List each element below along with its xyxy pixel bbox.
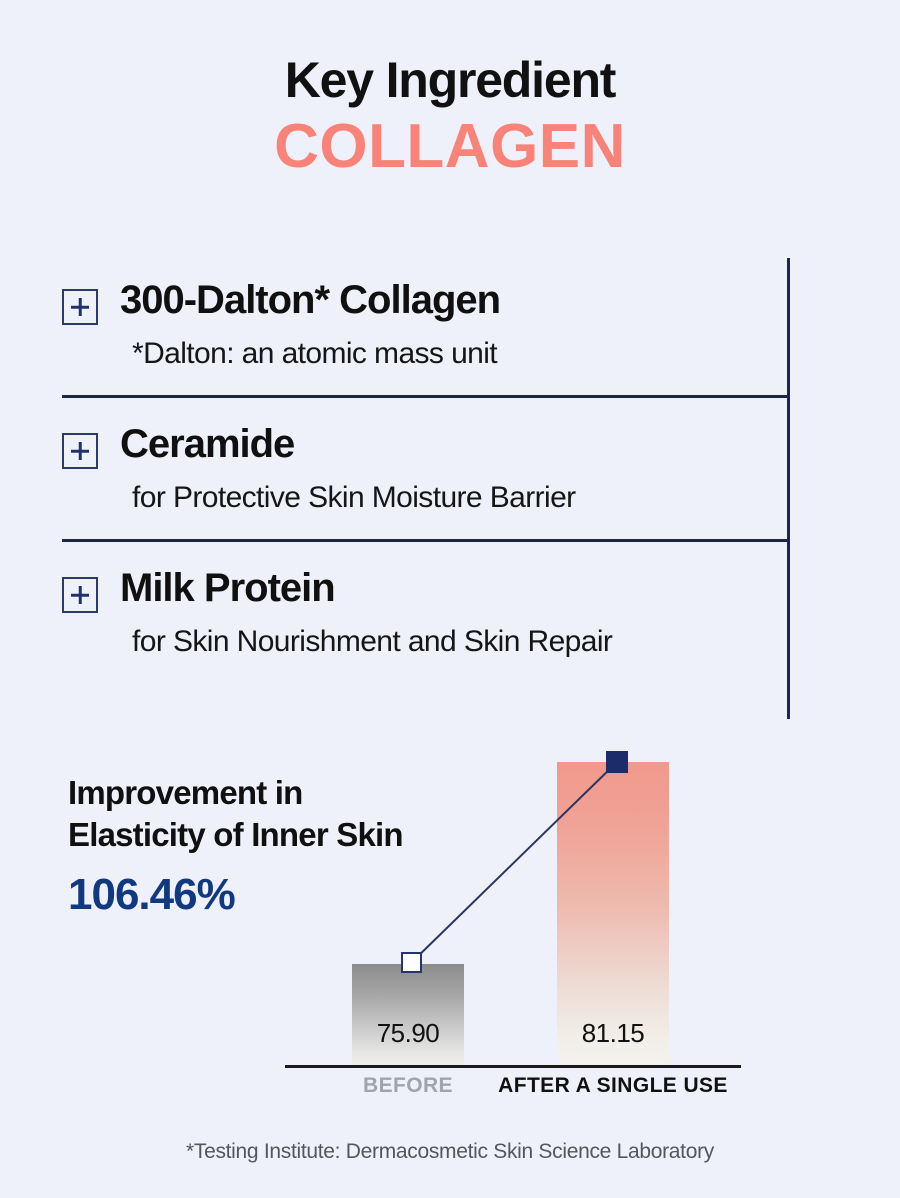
feature-item-collagen: 300-Dalton* Collagen *Dalton: an atomic … (62, 258, 790, 395)
feature-subtitle: *Dalton: an atomic mass unit (132, 339, 790, 369)
trend-connector-line (285, 760, 741, 1065)
chart-section: Improvement in Elasticity of Inner Skin … (0, 760, 900, 1198)
axis-label-after: AFTER A SINGLE USE (498, 1075, 728, 1096)
data-point-marker-after (606, 751, 628, 773)
plus-icon (62, 433, 98, 469)
feature-title: Ceramide (120, 424, 294, 464)
feature-item-milk-protein: Milk Protein for Skin Nourishment and Sk… (62, 542, 790, 657)
axis-label-before: BEFORE (363, 1075, 453, 1096)
plus-icon (62, 577, 98, 613)
feature-subtitle: for Skin Nourishment and Skin Repair (132, 627, 790, 657)
feature-subtitle: for Protective Skin Moisture Barrier (132, 483, 790, 513)
page-title: Key Ingredient (0, 54, 900, 107)
feature-title: 300-Dalton* Collagen (120, 280, 500, 320)
data-point-marker-before (401, 952, 422, 973)
bar-chart-plot: 75.90 81.15 (285, 760, 741, 1065)
footnote: *Testing Institute: Dermacosmetic Skin S… (0, 1140, 900, 1164)
header: Key Ingredient COLLAGEN (0, 54, 900, 182)
feature-row: 300-Dalton* Collagen (62, 280, 790, 325)
feature-title: Milk Protein (120, 568, 335, 608)
feature-row: Ceramide (62, 424, 790, 469)
chart-axis-labels: BEFORE AFTER A SINGLE USE (285, 1075, 741, 1109)
page-title-accent: COLLAGEN (0, 111, 900, 182)
chart-axis-line (285, 1065, 741, 1068)
plus-icon (62, 289, 98, 325)
feature-list: 300-Dalton* Collagen *Dalton: an atomic … (62, 258, 790, 657)
feature-row: Milk Protein (62, 568, 790, 613)
feature-item-ceramide: Ceramide for Protective Skin Moisture Ba… (62, 398, 790, 539)
